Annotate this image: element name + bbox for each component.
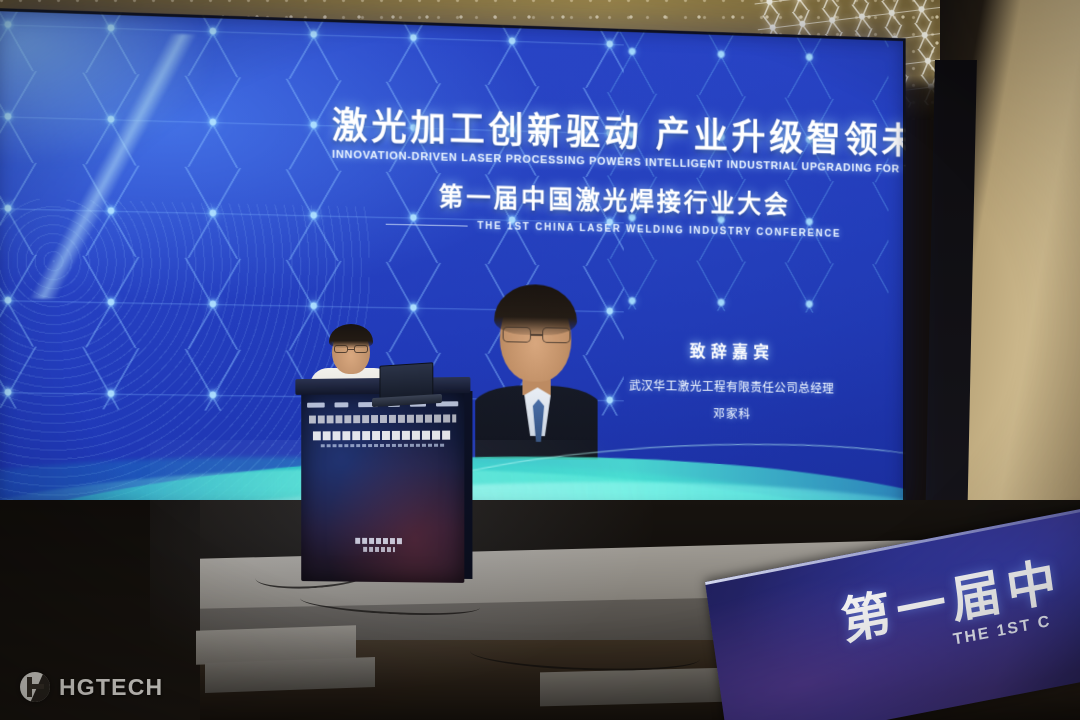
- sponsor-logo-2: [335, 402, 349, 407]
- hgtech-watermark: HGTECH: [20, 672, 163, 702]
- stage-step-3: [540, 668, 730, 707]
- glasses-bridge: [531, 334, 542, 336]
- glasses-right-lens: [542, 327, 570, 343]
- podium-headline-text: [309, 414, 456, 423]
- speaker-role-title: 致辞嘉宾: [612, 336, 852, 364]
- glasses-left-lens: [503, 327, 531, 343]
- podium-subtitle-text: [313, 431, 452, 441]
- presenter-glasses-icon: [334, 345, 368, 353]
- podium: [301, 385, 464, 583]
- light-streak: [0, 27, 277, 303]
- subtitle-chinese: 第一届中国激光焊接行业大会: [332, 175, 892, 224]
- stage-step-2: [205, 657, 375, 693]
- hgtech-logo-icon: [20, 672, 50, 702]
- presenter-right-lens: [354, 345, 368, 353]
- banner-text-chinese: 第一届中: [836, 540, 1066, 654]
- sponsor-logo-1: [307, 403, 325, 408]
- screen-headline-block: 激光加工创新驱动 产业升级智领未来 INNOVATION-DRIVEN LASE…: [332, 106, 892, 242]
- podium-subtitle-english-text: [321, 444, 444, 448]
- laptop-screen: [379, 362, 433, 399]
- podium-front-panel: [301, 389, 464, 583]
- divider-rule: [386, 224, 468, 227]
- presenter-left-lens: [334, 345, 348, 353]
- conference-photo-scene: 激光加工创新驱动 产业升级智领未来 INNOVATION-DRIVEN LASE…: [0, 0, 1080, 720]
- hgtech-logo-cut: [30, 672, 50, 702]
- podium-logo-mark: [355, 538, 403, 554]
- glasses-icon: [503, 327, 571, 344]
- podium-logo-line-2: [363, 547, 395, 552]
- podium-logo-line-1: [355, 538, 403, 544]
- hgtech-brand-text: HGTECH: [59, 674, 163, 701]
